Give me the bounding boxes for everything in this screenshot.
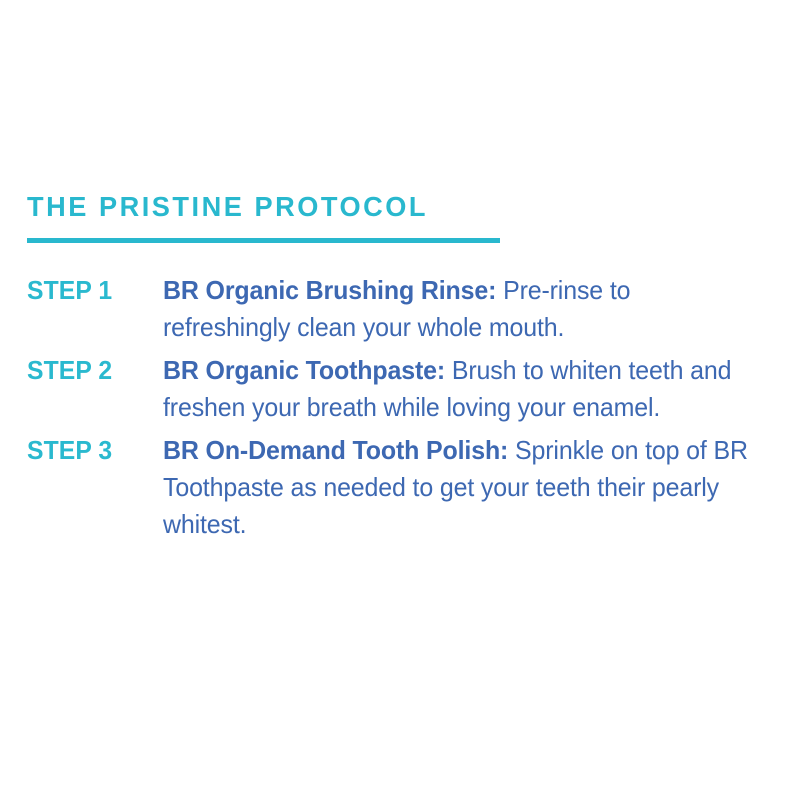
step-separator-1: :: [488, 275, 503, 305]
step-label-2: STEP 2: [27, 352, 156, 389]
step-product-name-2: BR Organic Toothpaste: [163, 355, 437, 385]
step-row: STEP 2 BR Organic Toothpaste: Brush to w…: [27, 352, 779, 426]
step-product-name-3: BR On-Demand Tooth Polish: [163, 435, 500, 465]
step-separator-2: :: [437, 355, 452, 385]
heading-block: THE PRISTINE PROTOCOL: [27, 193, 767, 243]
protocol-panel: THE PRISTINE PROTOCOL STEP 1 BR Organic …: [0, 0, 800, 800]
page-title: THE PRISTINE PROTOCOL: [27, 193, 745, 221]
step-body-2: BR Organic Toothpaste: Brush to whiten t…: [163, 352, 754, 426]
step-row: STEP 3 BR On-Demand Tooth Polish: Sprink…: [27, 432, 779, 543]
step-separator-3: :: [500, 435, 515, 465]
step-label-3: STEP 3: [27, 432, 156, 469]
step-product-name-1: BR Organic Brushing Rinse: [163, 275, 488, 305]
steps-list: STEP 1 BR Organic Brushing Rinse: Pre-ri…: [27, 272, 779, 549]
step-body-1: BR Organic Brushing Rinse: Pre-rinse to …: [163, 272, 754, 346]
step-row: STEP 1 BR Organic Brushing Rinse: Pre-ri…: [27, 272, 779, 346]
step-label-1: STEP 1: [27, 272, 156, 309]
title-underline-rule: [27, 238, 500, 243]
step-body-3: BR On-Demand Tooth Polish: Sprinkle on t…: [163, 432, 754, 543]
